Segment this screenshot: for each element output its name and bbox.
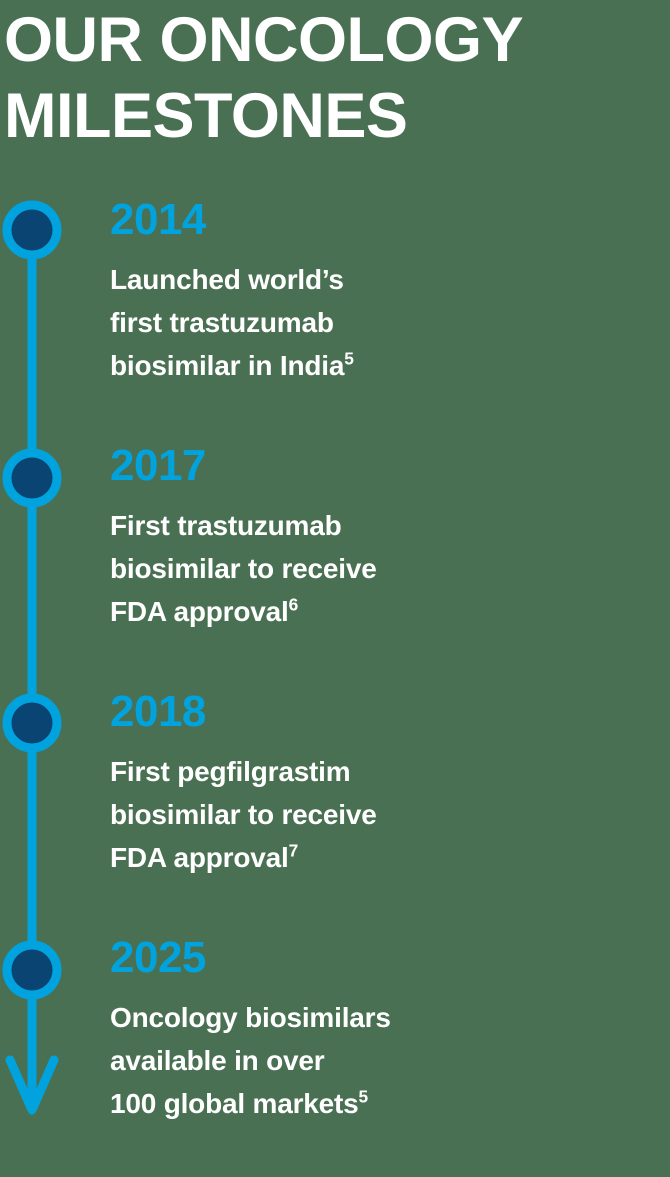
milestone-body: First pegfilgrastim biosimilar to receiv… [110,756,377,873]
milestone-year: 2017 [110,440,655,492]
milestone-description: First pegfilgrastim biosimilar to receiv… [110,750,655,879]
milestone-footnote: 5 [344,349,353,369]
timeline-node-2017 [7,453,57,503]
timeline-node-2025 [7,945,57,995]
milestone-footnote: 5 [359,1087,368,1107]
milestone-description: Launched world’s first trastuzumab biosi… [110,258,655,387]
milestone-year: 2014 [110,194,655,246]
timeline-node-2018 [7,698,57,748]
page-title: OUR ONCOLOGY MILESTONES [4,2,644,154]
milestone-year: 2025 [110,932,655,984]
milestone-description: First trastuzumab biosimilar to receive … [110,504,655,633]
milestone-year: 2018 [110,686,655,738]
timeline-track [0,170,100,1177]
milestone-item: 2025 Oncology biosimilars available in o… [110,932,655,1125]
milestone-item: 2018 First pegfilgrastim biosimilar to r… [110,686,655,879]
milestone-footnote: 6 [289,595,298,615]
milestone-item: 2014 Launched world’s first trastuzumab … [110,194,655,387]
milestone-item: 2017 First trastuzumab biosimilar to rec… [110,440,655,633]
milestone-body: Oncology biosimilars available in over 1… [110,1002,391,1119]
milestone-footnote: 7 [289,841,298,861]
milestone-description: Oncology biosimilars available in over 1… [110,996,655,1125]
timeline: 2014 Launched world’s first trastuzumab … [0,170,670,1177]
timeline-node-2014 [7,205,57,255]
milestone-body: First trastuzumab biosimilar to receive … [110,510,377,627]
milestone-body: Launched world’s first trastuzumab biosi… [110,264,344,381]
